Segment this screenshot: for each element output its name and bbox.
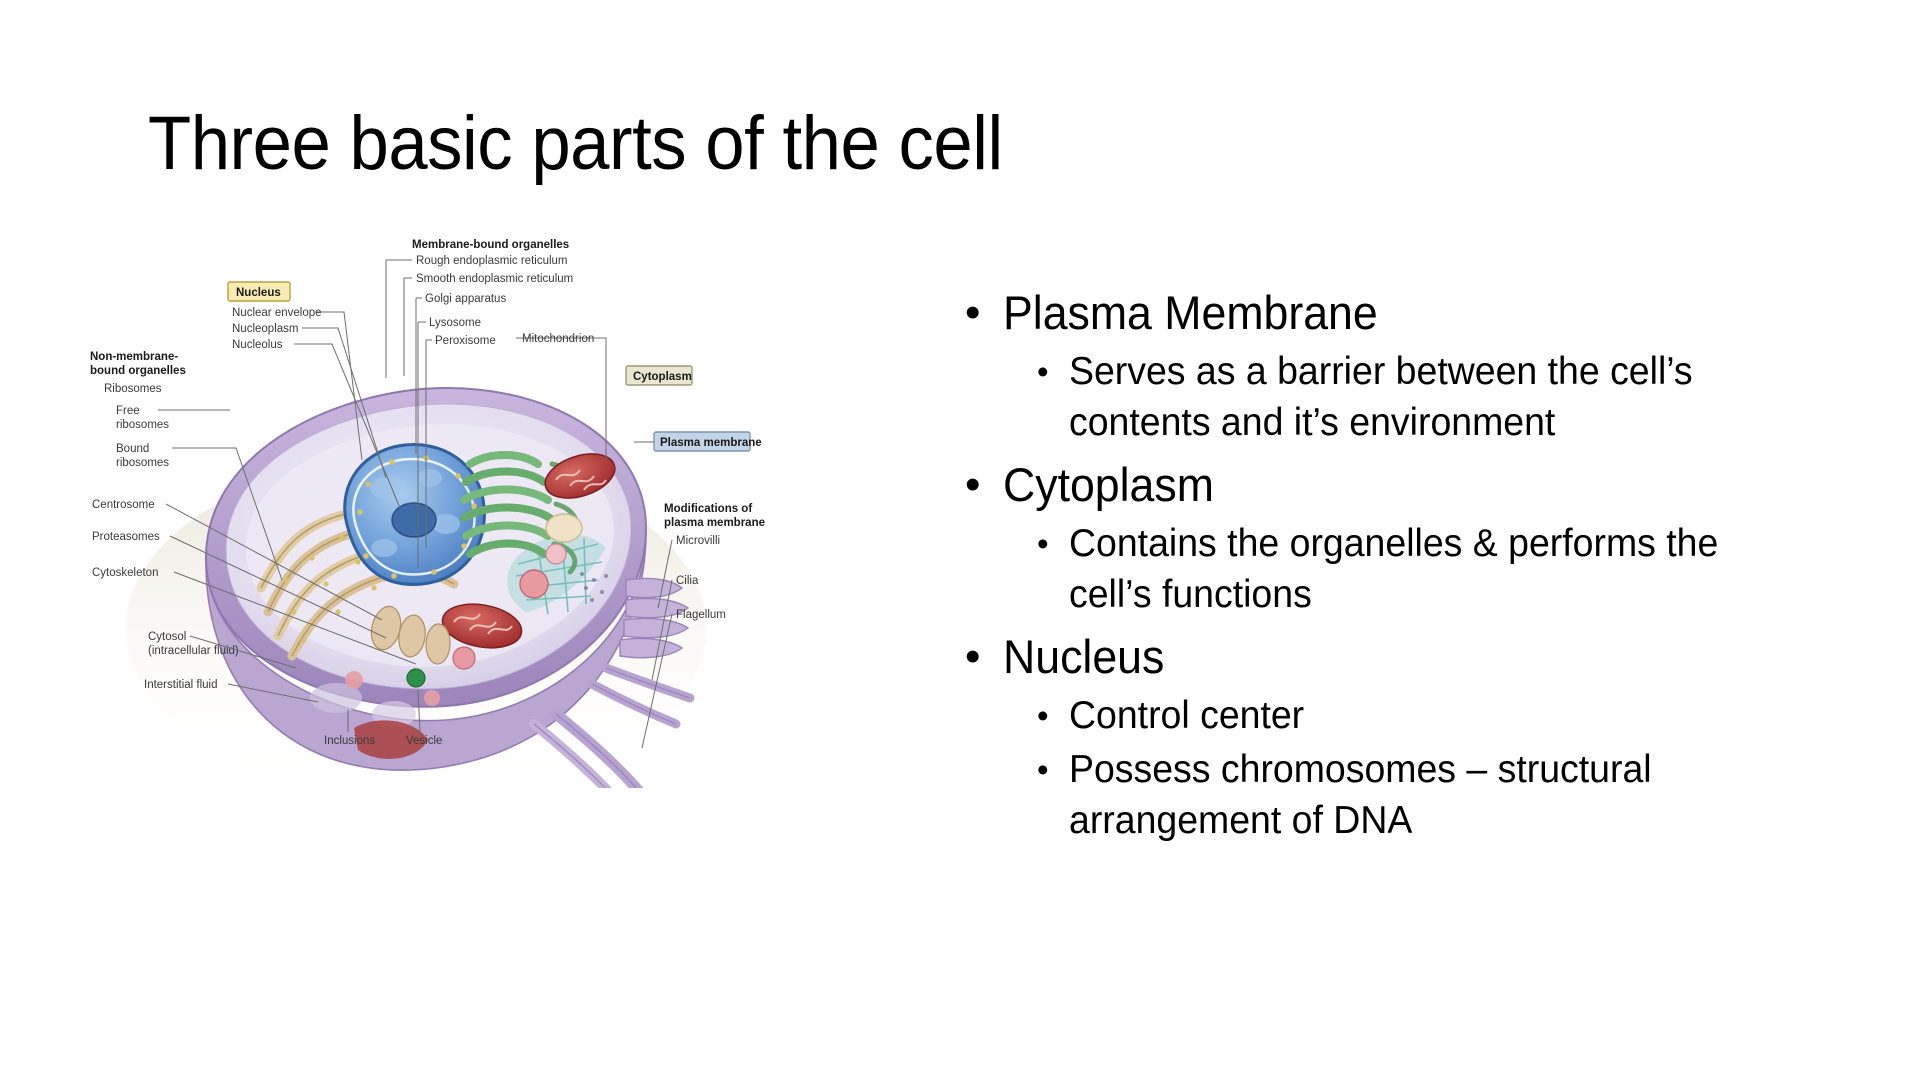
label-proteasomes: Proteasomes (92, 531, 160, 543)
sub-bullet-item: • Contains the organelles & performs the… (965, 518, 1845, 620)
bullet-item-nucleus: • Nucleus (965, 626, 1845, 688)
bullet-group-nucleus: • Nucleus • Control center • Possess chr… (965, 626, 1845, 846)
label-lysosome: Lysosome (429, 317, 481, 329)
bullet-glyph-icon: • (1037, 690, 1069, 742)
label-cytoskeleton: Cytoskeleton (92, 567, 158, 579)
label-peroxisome: Peroxisome (435, 335, 496, 347)
bullet-glyph-icon: • (1037, 518, 1069, 570)
membrane-bound-heading: Membrane-bound organelles (412, 239, 569, 251)
label-free-2: ribosomes (116, 419, 169, 431)
bullet-glyph-icon: • (965, 454, 1003, 516)
callout-label-nucleus: Nucleus (236, 287, 281, 299)
label-smooth-er: Smooth endoplasmic reticulum (416, 273, 573, 285)
non-membrane-heading-1: Non-membrane- (90, 351, 178, 363)
label-inclusions: Inclusions (324, 735, 375, 747)
sub-bullet-item: • Possess chromosomes – structural arran… (965, 744, 1845, 846)
callout-label-cytoplasm: Cytoplasm (633, 371, 692, 383)
label-golgi: Golgi apparatus (425, 293, 506, 305)
sub-bullet-label-chromosomes: Possess chromosomes – structural arrange… (1069, 744, 1770, 846)
bullet-item-cytoplasm: • Cytoplasm (965, 454, 1845, 516)
label-interstitial-fluid: Interstitial fluid (144, 679, 218, 691)
bullet-label-cytoplasm: Cytoplasm (1003, 454, 1214, 516)
modifications-heading-1: Modifications of (664, 503, 752, 515)
bullet-group-plasma-membrane: • Plasma Membrane • Serves as a barrier … (965, 282, 1845, 448)
modifications-heading-2: plasma membrane (664, 517, 765, 529)
lysosome (520, 570, 548, 598)
label-nuclear-envelope: Nuclear envelope (232, 307, 322, 319)
label-rough-er: Rough endoplasmic reticulum (416, 255, 568, 267)
vesicle-lower (453, 647, 475, 669)
label-nucleolus: Nucleolus (232, 339, 283, 351)
bullet-glyph-icon: • (965, 282, 1003, 344)
label-mitochondrion: Mitochondrion (522, 333, 594, 345)
bullet-label-nucleus: Nucleus (1003, 626, 1164, 688)
label-centrosome: Centrosome (92, 499, 155, 511)
callout-label-plasma-membrane: Plasma membrane (660, 437, 762, 449)
label-nucleoplasm: Nucleoplasm (232, 323, 298, 335)
bullet-item-plasma-membrane: • Plasma Membrane (965, 282, 1845, 344)
sub-bullet-label-organelles: Contains the organelles & performs the c… (1069, 518, 1770, 620)
vesicle-green (407, 669, 425, 687)
label-bound-1: Bound (116, 443, 149, 455)
slide-canvas: Three basic parts of the cell (0, 0, 1920, 1080)
sub-bullet-label-control-center: Control center (1069, 690, 1304, 741)
vesicle-upper (546, 514, 582, 542)
bullet-glyph-icon: • (1037, 346, 1069, 398)
sub-bullet-item: • Control center (965, 690, 1845, 742)
bullet-group-cytoplasm: • Cytoplasm • Contains the organelles & … (965, 454, 1845, 620)
non-membrane-heading-2: bound organelles (90, 365, 186, 377)
sub-bullet-item: • Serves as a barrier between the cell’s… (965, 346, 1845, 448)
label-flagellum: Flagellum (676, 609, 726, 621)
label-ribosomes: Ribosomes (104, 383, 162, 395)
label-microvilli: Microvilli (676, 535, 720, 547)
bullet-label-plasma-membrane: Plasma Membrane (1003, 282, 1378, 344)
bullet-glyph-icon: • (965, 626, 1003, 688)
peroxisome (546, 544, 566, 564)
bullet-glyph-icon: • (1037, 744, 1069, 796)
label-free-1: Free (116, 405, 140, 417)
page-title: Three basic parts of the cell (148, 104, 1543, 184)
label-vesicle: Vesicle (406, 735, 442, 747)
label-bound-2: ribosomes (116, 457, 169, 469)
animal-cell-diagram: Membrane-bound organelles Rough endoplas… (86, 228, 856, 788)
label-cilia: Cilia (676, 575, 699, 587)
label-cytosol-1: Cytosol (148, 631, 186, 643)
content-body: • Plasma Membrane • Serves as a barrier … (965, 282, 1845, 852)
sub-bullet-label-barrier: Serves as a barrier between the cell’s c… (1069, 346, 1770, 448)
